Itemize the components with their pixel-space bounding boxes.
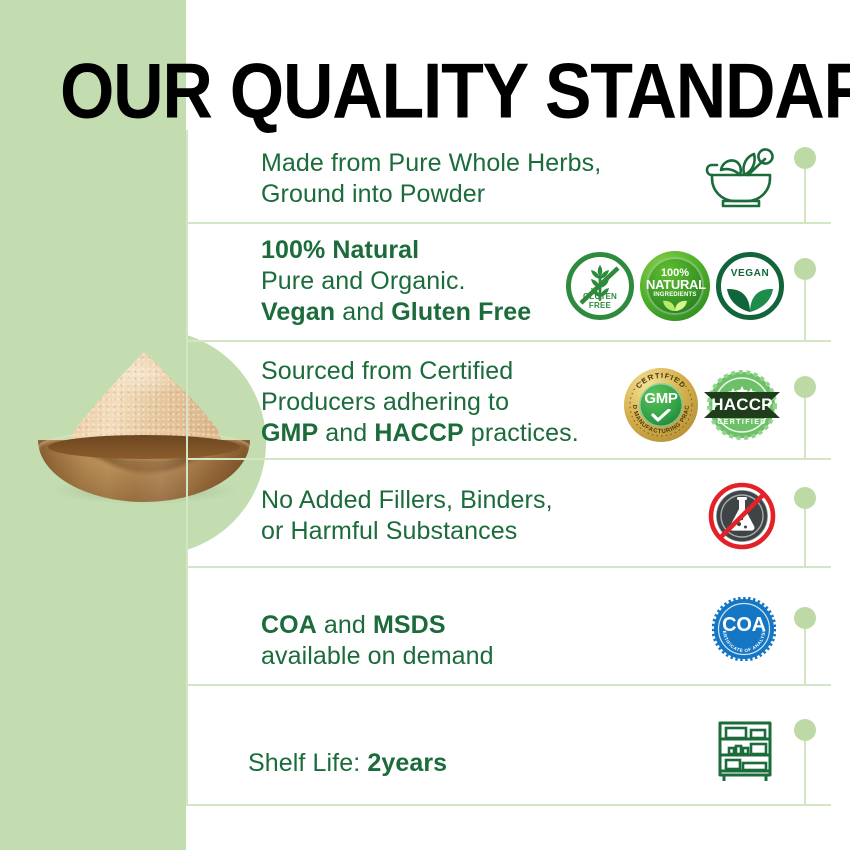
row-icons xyxy=(704,714,778,786)
list-item-text: No Added Fillers, Binders, or Harmful Su… xyxy=(261,485,553,547)
row-line: Producers adhering to xyxy=(261,388,509,416)
row-connector-dot xyxy=(794,376,816,398)
haccp-label: HACCP xyxy=(700,395,784,415)
gluten-free-line2: FREE xyxy=(571,302,629,311)
row-left-rule xyxy=(186,568,188,686)
storage-shelf-icon xyxy=(712,717,778,783)
coa-label: COA xyxy=(712,614,776,637)
row-line: Vegan xyxy=(261,298,335,326)
row-left-rule xyxy=(186,224,188,342)
row-icons: CERTIFICATE OF ANALYSIS COA xyxy=(704,596,776,662)
row-divider xyxy=(186,804,831,806)
gmp-check-icon xyxy=(651,409,671,423)
quality-standards-infographic: OUR QUALITY STANDARDS Made from Pure Who… xyxy=(0,0,850,850)
row-line: HACCP xyxy=(374,419,463,447)
haccp-sub-label: CERTIFIED xyxy=(700,419,784,426)
row-icons xyxy=(698,480,778,552)
natural-badge-inner: 100% NATURAL INGREDIENTS xyxy=(646,257,704,315)
gmp-label: GMP xyxy=(639,390,683,407)
standards-list: Made from Pure Whole Herbs, Ground into … xyxy=(0,0,850,850)
row-line: 100% Natural xyxy=(261,236,419,264)
gluten-free-label: GLUTEN FREE xyxy=(571,293,629,310)
row-line: COA xyxy=(261,611,317,639)
list-item-text: COA and MSDS available on demand xyxy=(261,610,494,672)
row-left-rule xyxy=(186,342,188,460)
natural-line2: NATURAL xyxy=(646,279,704,290)
list-item-pure-whole-herbs: Made from Pure Whole Herbs, Ground into … xyxy=(186,130,850,224)
row-icons xyxy=(692,146,778,212)
natural-leaves-glyph xyxy=(660,298,690,312)
list-item-coa-msds: COA and MSDS available on demand CERTIFI… xyxy=(186,568,850,686)
row-left-rule xyxy=(186,130,188,224)
row-line: Made from Pure Whole Herbs, xyxy=(261,149,601,177)
row-line: 2years xyxy=(367,749,447,777)
row-connector-line xyxy=(804,730,806,806)
gmp-inner-disc: GMP xyxy=(639,383,683,427)
row-connector-dot xyxy=(794,487,816,509)
list-item-shelf-life: Shelf Life: 2years xyxy=(186,686,850,806)
row-line: and xyxy=(335,298,391,326)
row-icons: GLUTEN FREE 100% NATURAL INGREDIENTS xyxy=(554,251,784,321)
row-line: Shelf Life: xyxy=(248,749,367,777)
gluten-free-badge: GLUTEN FREE xyxy=(566,252,634,320)
row-connector-dot xyxy=(794,719,816,741)
list-item-text: Made from Pure Whole Herbs, Ground into … xyxy=(261,148,601,210)
list-item-no-fillers: No Added Fillers, Binders, or Harmful Su… xyxy=(186,460,850,568)
row-connector-dot xyxy=(794,607,816,629)
row-connector-dot xyxy=(794,147,816,169)
list-item-natural-organic: 100% Natural Pure and Organic. Vegan and… xyxy=(186,224,850,342)
vegan-badge: VEGAN xyxy=(716,252,784,320)
no-chemicals-icon xyxy=(706,480,778,552)
gmp-certified-badge: CERTIFIED GOOD MANUFACTURING PRACTICE GM… xyxy=(624,368,698,442)
row-line: Ground into Powder xyxy=(261,180,485,208)
list-item-certified-producers: Sourced from Certified Producers adherin… xyxy=(186,342,850,460)
row-line: MSDS xyxy=(373,611,446,639)
row-connector-dot xyxy=(794,258,816,280)
row-left-rule xyxy=(186,460,188,568)
list-item-text: Shelf Life: 2years xyxy=(248,748,447,779)
row-line: and xyxy=(317,611,373,639)
row-icons: CERTIFIED GOOD MANUFACTURING PRACTICE GM… xyxy=(604,368,784,442)
row-line: No Added Fillers, Binders, xyxy=(261,486,553,514)
row-line: practices. xyxy=(464,419,579,447)
vegan-label: VEGAN xyxy=(721,268,779,279)
mortar-and-pestle-icon xyxy=(704,147,778,211)
list-item-text: 100% Natural Pure and Organic. Vegan and… xyxy=(261,235,531,328)
row-line: and xyxy=(318,419,374,447)
list-item-text: Sourced from Certified Producers adherin… xyxy=(261,356,579,449)
natural-badge-text: 100% NATURAL INGREDIENTS xyxy=(646,268,704,301)
haccp-certified-badge: HACCP CERTIFIED xyxy=(700,368,784,442)
row-line: GMP xyxy=(261,419,318,447)
row-line: Sourced from Certified xyxy=(261,357,513,385)
row-left-rule xyxy=(186,686,188,806)
coa-badge: CERTIFICATE OF ANALYSIS COA xyxy=(712,597,776,661)
100-natural-ingredients-badge: 100% NATURAL INGREDIENTS xyxy=(640,251,710,321)
row-line: Gluten Free xyxy=(391,298,531,326)
vegan-leaves-glyph xyxy=(724,281,776,313)
row-line: Pure and Organic. xyxy=(261,267,466,295)
row-line: available on demand xyxy=(261,642,494,670)
row-line: or Harmful Substances xyxy=(261,517,517,545)
